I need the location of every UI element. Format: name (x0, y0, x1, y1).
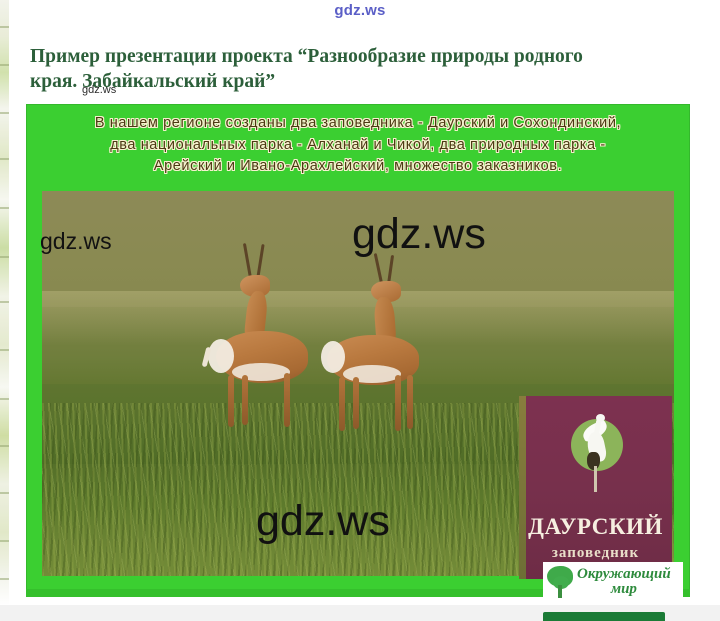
logo-title: ДАУРСКИЙ (519, 514, 672, 540)
gazelle-belly (232, 363, 290, 381)
gazelle-leg (228, 375, 234, 427)
gazelle-right (317, 253, 447, 433)
watermark-under-heading: gdz.ws (82, 84, 116, 96)
gazelle-leg (407, 375, 413, 429)
gazelle-left (192, 243, 322, 428)
gazelle-leg (395, 375, 401, 431)
gazelle-leg (242, 375, 248, 425)
tree-icon (545, 565, 575, 599)
gazelle-leg (353, 377, 359, 429)
watermark-image-lower: gdz.ws (256, 497, 390, 546)
logo-subtitle: заповедник (519, 545, 672, 562)
gazelle-rump (321, 341, 345, 373)
page-root: gdz.ws Пример презентации проекта “Разно… (0, 0, 720, 621)
watermark-image-center: gdz.ws (352, 210, 486, 259)
badge-text: Окружающий мир (577, 567, 671, 597)
crane-icon (581, 414, 615, 492)
badge-line-2: мир (577, 582, 671, 597)
watermark-image-left: gdz.ws (40, 228, 112, 255)
gazelle-belly (343, 365, 401, 383)
gazelle-rump (208, 339, 234, 373)
slide-text-line-1: В нашем регионе созданы два заповедника … (26, 113, 690, 135)
slide-text-line-3: Арейский и Ивано-Арахлейский, множество … (26, 156, 690, 178)
bottom-green-button[interactable] (543, 612, 665, 621)
gazelle-leg (284, 373, 290, 427)
watermark-top: gdz.ws (0, 2, 720, 19)
page-title-line-1: Пример презентации проекта “Разнообразие… (30, 46, 583, 67)
left-page-sliver (0, 0, 9, 605)
slide-body-text: В нашем регионе созданы два заповедника … (26, 113, 690, 178)
page-title: Пример презентации проекта “Разнообразие… (30, 44, 680, 94)
gazelle-horn (243, 243, 252, 279)
gazelle-leg (339, 377, 345, 431)
okruzhayushchiy-mir-badge: Окружающий мир (543, 562, 683, 602)
slide-text-line-2: два национальных парка - Алханай и Чикой… (26, 135, 690, 157)
page-title-line-2: края. Забайкальский край” (30, 69, 680, 94)
badge-line-1: Окружающий (577, 566, 671, 582)
daursky-reserve-logo: ДАУРСКИЙ заповедник (519, 396, 672, 579)
gazelle-horn (256, 244, 264, 278)
